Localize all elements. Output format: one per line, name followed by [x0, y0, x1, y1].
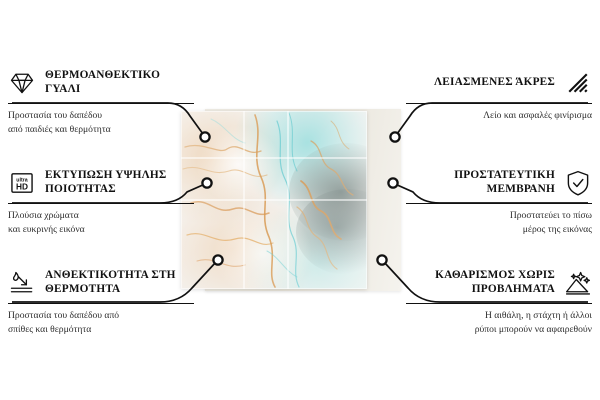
- divider: [8, 103, 194, 104]
- diamond-icon: [8, 69, 36, 97]
- divider: [406, 103, 592, 104]
- glass-panel: [181, 111, 367, 289]
- svg-text:HD: HD: [16, 181, 28, 191]
- smoothed-edges-icon: [564, 69, 592, 97]
- feature-smoothed-edges: ΛΕΙΑΣΜΕΝΕΣ ΆΚΡΕΣ Λείο και ασφαλές φινίρι…: [406, 66, 592, 123]
- feature-description: Λείο και ασφαλές φινίρισμα: [406, 109, 592, 123]
- divider: [406, 303, 592, 304]
- product-image: [181, 111, 399, 289]
- feature-description: Προστασία του δαπέδου από σπίθες και θερ…: [8, 309, 194, 336]
- infographic-stage: ΘΕΡΜΟΑΝΘΕΚΤΙΚΟ ΓΥΑΛΙ Προστασία του δαπέδ…: [0, 0, 600, 400]
- divider: [406, 203, 592, 204]
- feature-title: ΛΕΙΑΣΜΕΝΕΣ ΆΚΡΕΣ: [434, 76, 555, 90]
- divider: [8, 303, 194, 304]
- feature-heat-resistant-glass: ΘΕΡΜΟΑΝΘΕΚΤΙΚΟ ΓΥΑΛΙ Προστασία του δαπέδ…: [8, 66, 194, 136]
- feature-title: ΠΡΟΣΤΑΤΕΥΤΙΚΗ ΜΕΜΒΡΑΝΗ: [406, 169, 555, 197]
- feature-description: Προστασία του δαπέδου από παιδιές και θε…: [8, 109, 194, 136]
- feature-protective-film: ΠΡΟΣΤΑΤΕΥΤΙΚΗ ΜΕΜΒΡΑΝΗ Προστατεύει το πί…: [406, 166, 592, 236]
- feature-description: Προστατεύει το πίσω μέρος της εικόνας: [406, 209, 592, 236]
- feature-description: Πλούσια χρώματα και ευκρινής εικόνα: [8, 209, 194, 236]
- feature-title: ΕΚΤΥΠΩΣΗ ΥΨΗΛΗΣ ΠΟΙΟΤΗΤΑΣ: [45, 169, 194, 197]
- shield-check-icon: [564, 169, 592, 197]
- divider: [8, 203, 194, 204]
- feature-description: Η αιθάλη, η στάχτη ή άλλοι ρύποι μπορούν…: [406, 309, 592, 336]
- feature-title: ΚΑΘΑΡΙΣΜΟΣ ΧΩΡΙΣ ΠΡΟΒΛΗΜΑΤΑ: [406, 269, 555, 297]
- feature-title: ΘΕΡΜΟΑΝΘΕΚΤΙΚΟ ΓΥΑΛΙ: [45, 69, 194, 97]
- feature-high-quality-print: ultra HD ΕΚΤΥΠΩΣΗ ΥΨΗΛΗΣ ΠΟΙΟΤΗΤΑΣ Πλούσ…: [8, 166, 194, 236]
- feature-heat-durability: ΑΝΘΕΚΤΙΚΟΤΗΤΑ ΣΤΗ ΘΕΡΜΟΤΗΤΑ Προστασία το…: [8, 266, 194, 336]
- sparkle-clean-icon: [564, 269, 592, 297]
- feature-title: ΑΝΘΕΚΤΙΚΟΤΗΤΑ ΣΤΗ ΘΕΡΜΟΤΗΤΑ: [45, 269, 194, 297]
- ultra-hd-icon: ultra HD: [8, 169, 36, 197]
- feature-easy-cleaning: ΚΑΘΑΡΙΣΜΟΣ ΧΩΡΙΣ ΠΡΟΒΛΗΜΑΤΑ Η αιθάλη, η …: [406, 266, 592, 336]
- panel-edge-highlight: [181, 111, 367, 289]
- heat-resistance-icon: [8, 269, 36, 297]
